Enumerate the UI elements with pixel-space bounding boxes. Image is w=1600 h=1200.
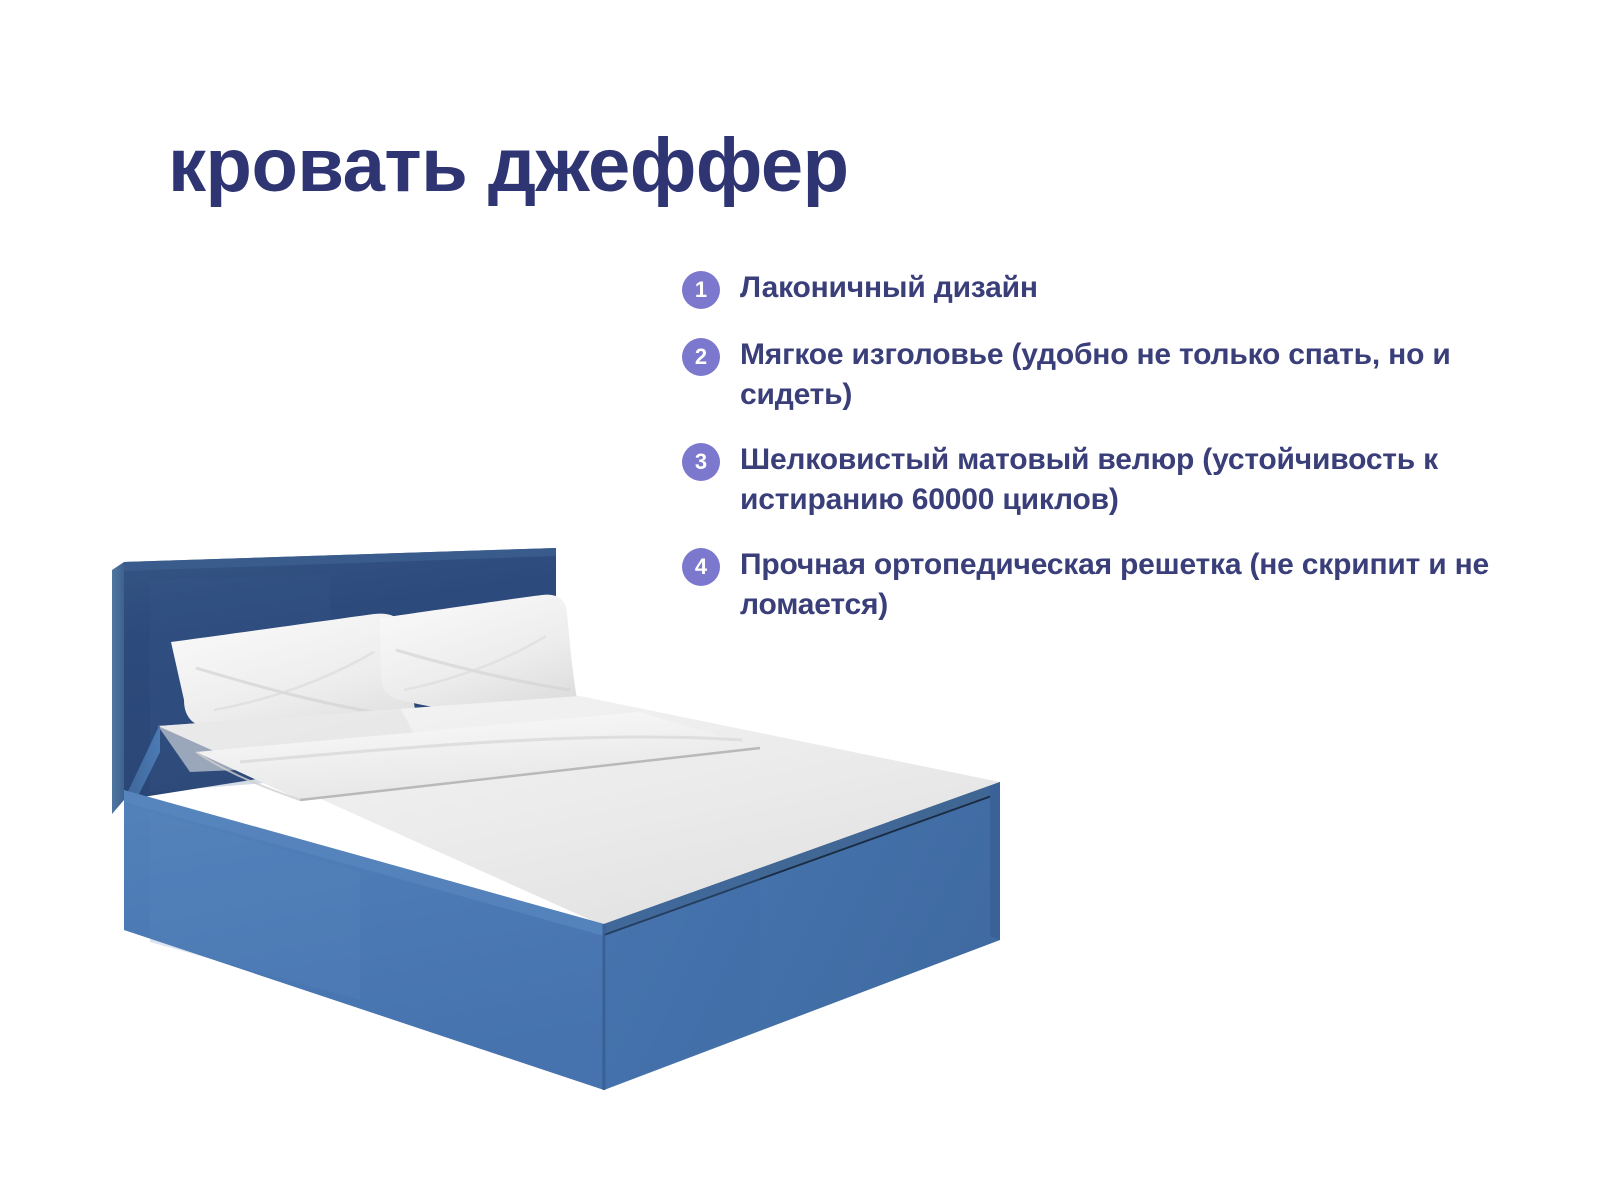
- feature-number-badge: 1: [682, 271, 720, 309]
- headboard-left-edge: [112, 562, 124, 814]
- feature-text: Мягкое изголовье (удобно не только спать…: [740, 335, 1502, 414]
- bed-product-image: [0, 500, 1060, 1140]
- base-foot-right-edge: [990, 782, 1000, 940]
- feature-item: 2 Мягкое изголовье (удобно не только спа…: [682, 335, 1502, 414]
- feature-text: Лаконичный дизайн: [740, 268, 1038, 308]
- bed-illustration-svg: [0, 500, 1060, 1140]
- page-title: кровать джеффер: [168, 128, 849, 204]
- feature-item: 1 Лаконичный дизайн: [682, 268, 1502, 309]
- feature-number-badge: 2: [682, 338, 720, 376]
- feature-number-badge: 3: [682, 443, 720, 481]
